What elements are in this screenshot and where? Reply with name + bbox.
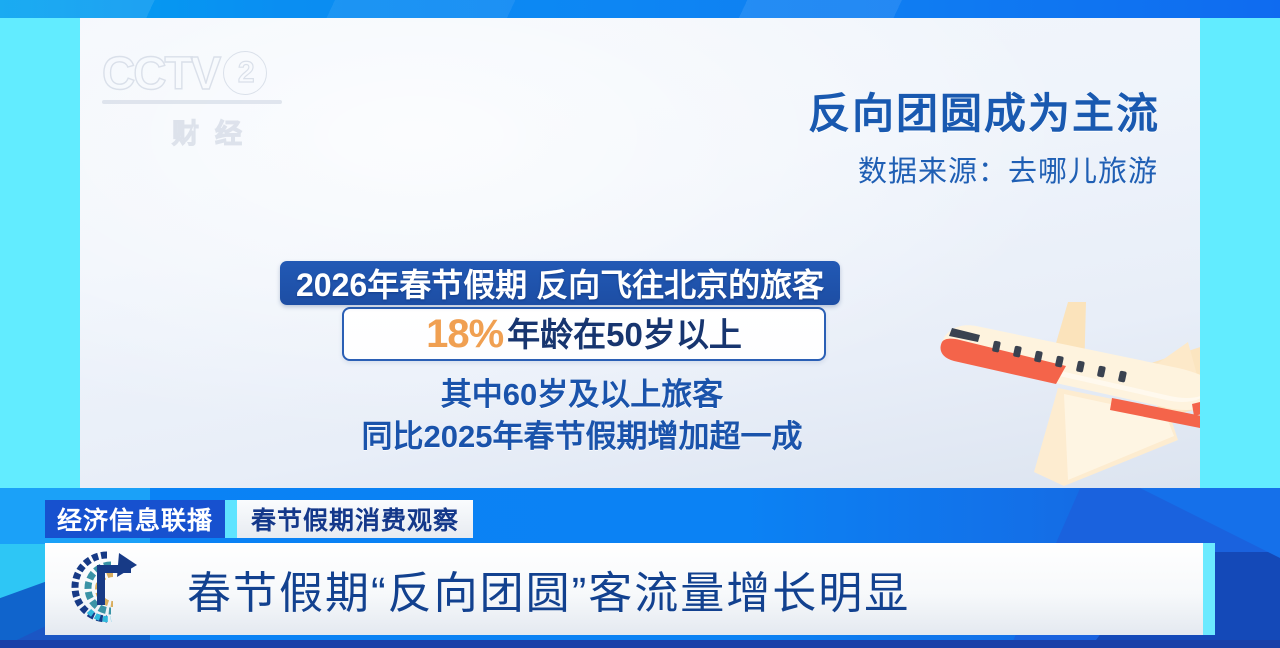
tag-divider — [225, 500, 237, 538]
cctv-channel-name: 财经 — [102, 112, 312, 151]
stat-percentage-value: 18% — [426, 314, 507, 354]
graphic-title: 反向团圆成为主流 — [808, 80, 1160, 141]
lower-third-tags: 经济信息联播 春节假期消费观察 — [45, 500, 473, 538]
airplane-icon — [916, 290, 1200, 488]
bottom-rule — [0, 640, 1280, 648]
graphic-source: 数据来源：去哪儿旅游 — [858, 148, 1158, 190]
detail-text-block: 其中60岁及以上旅客 同比2025年春节假期增加超一成 — [312, 374, 852, 458]
stat-banner-label: 2026年春节假期 反向飞往北京的旅客 — [296, 260, 824, 306]
broadcast-screen: CCTV 2 财经 反向团圆成为主流 数据来源：去哪儿旅游 2026年春节假期 … — [0, 0, 1280, 648]
cctv-wordmark: CCTV 2 — [102, 50, 312, 96]
right-cyan-band — [1200, 18, 1280, 488]
infographic-panel: CCTV 2 财经 反向团圆成为主流 数据来源：去哪儿旅游 2026年春节假期 … — [80, 18, 1200, 488]
detail-line-2: 同比2025年春节假期增加超一成 — [312, 416, 852, 458]
stat-callout-box: 18% 年龄在50岁以上 — [342, 307, 826, 361]
headline-text: 春节假期“反向团圆”客流量增长明显 — [187, 557, 910, 621]
stat-description: 年龄在50岁以上 — [507, 318, 742, 351]
top-accent-strip — [0, 0, 1280, 18]
program-tag: 经济信息联播 — [45, 500, 225, 538]
cctv-letters: CCTV — [102, 50, 219, 96]
cctv-finance-swoosh-logo-icon — [61, 543, 153, 635]
stat-banner: 2026年春节假期 反向飞往北京的旅客 — [280, 261, 840, 305]
cctv-underline — [102, 100, 282, 104]
left-cyan-band — [0, 18, 80, 488]
headline-bar: 春节假期“反向团圆”客流量增长明显 — [45, 543, 1215, 635]
cctv-watermark: CCTV 2 财经 — [102, 50, 312, 160]
headline-accent-strip — [1203, 543, 1215, 635]
detail-line-1: 其中60岁及以上旅客 — [312, 374, 852, 416]
cctv-channel-number: 2 — [223, 51, 267, 95]
topic-tag: 春节假期消费观察 — [237, 500, 473, 538]
